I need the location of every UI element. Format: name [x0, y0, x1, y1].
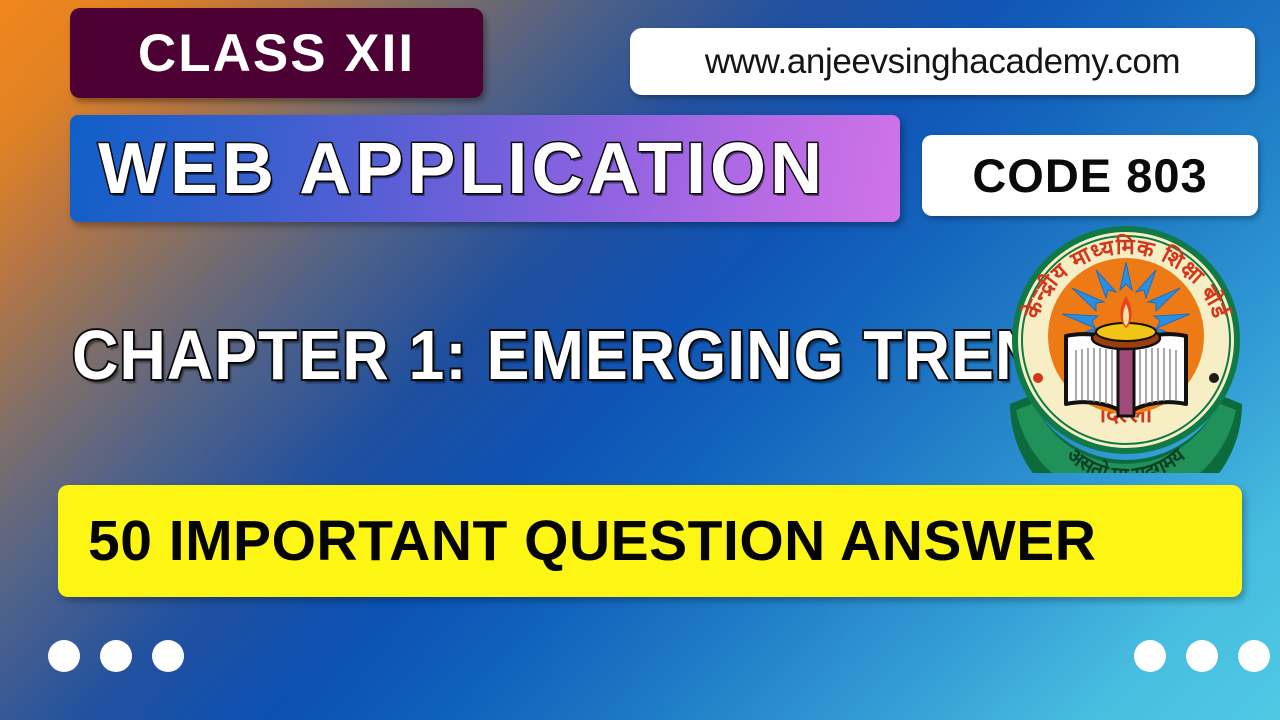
website-url-pill[interactable]: www.anjeevsinghacademy.com: [630, 28, 1255, 95]
decor-dots-left: [48, 640, 184, 672]
dot-icon: [1134, 640, 1166, 672]
subject-banner: WEB APPLICATION: [70, 115, 900, 222]
dot-icon: [48, 640, 80, 672]
chapter-title: CHAPTER 1: EMERGING TRENDS: [72, 315, 1002, 395]
class-badge: CLASS XII: [70, 8, 483, 98]
decor-dots-right: [1134, 640, 1270, 672]
cbse-emblem-icon: असतो मा सद्‌गमय केन्द्रीय माध्यमिक शिक्ष…: [1004, 218, 1248, 473]
website-url-label: www.anjeevsinghacademy.com: [705, 42, 1180, 82]
cta-banner-text: 50 IMPORTANT QUESTION ANSWER: [88, 513, 1096, 570]
dot-icon: [100, 640, 132, 672]
chapter-title-text: CHAPTER 1: EMERGING TRENDS: [72, 320, 1134, 390]
subject-code-label: CODE 803: [972, 152, 1207, 199]
subject-code-pill: CODE 803: [922, 135, 1258, 216]
dot-icon: [152, 640, 184, 672]
class-badge-label: CLASS XII: [138, 27, 415, 80]
subject-banner-label: WEB APPLICATION: [98, 133, 826, 205]
dot-icon: [1186, 640, 1218, 672]
cta-banner: 50 IMPORTANT QUESTION ANSWER: [58, 485, 1242, 597]
dot-icon: [1238, 640, 1270, 672]
thumbnail-canvas: CLASS XII www.anjeevsinghacademy.com WEB…: [0, 0, 1280, 720]
